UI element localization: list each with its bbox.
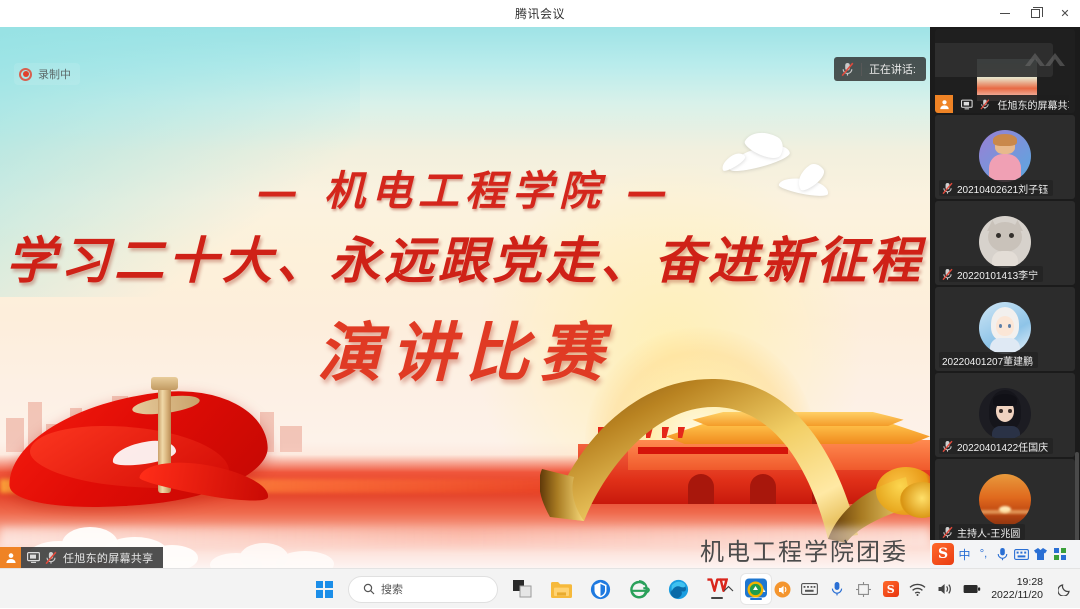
moon-icon[interactable] [1055,580,1074,599]
participant-name-bar: 20220401422任国庆 [939,438,1053,454]
microphone-icon[interactable] [827,580,846,599]
wifi-icon[interactable] [908,580,927,599]
mic-muted-icon [841,62,854,77]
participant-name: 任旭东的屏幕共享 [997,97,1069,112]
chevron-up-icon[interactable] [719,580,738,599]
mic-muted-icon [942,182,953,195]
screen-share-icon [27,552,40,563]
tencent-meeting-icon [1023,49,1067,71]
speaking-label: 正在讲话: [869,61,916,77]
avatar [979,302,1031,354]
avatar [979,130,1031,182]
participant-name: 20210402621刘子钰 [957,181,1048,196]
participant-name-bar: 20220101413李宁 [939,266,1043,282]
restore-button[interactable] [1020,0,1050,27]
participant-name: 20220401207董建鹏 [942,353,1033,368]
punctuation-icon[interactable]: °, [975,543,992,565]
internet-explorer-icon[interactable] [624,574,654,604]
participant-name: 20220101413李宁 [957,267,1038,282]
soft-keyboard-icon[interactable] [1013,543,1030,565]
clock-date: 2022/11/20 [991,589,1043,602]
restore-icon [1031,9,1040,18]
file-explorer-icon[interactable] [546,574,576,604]
meeting-window: — 机电工程学院 — 学习二十大、永远跟党走、奋进新征程 演讲比赛 [0,27,1080,568]
screen-share-icon [961,99,973,110]
participant-tile[interactable]: 任旭东的屏幕共享 [935,29,1075,113]
taskbar-clock[interactable]: 19:28 2022/11/20 [989,576,1047,602]
sogou-icon[interactable]: S [932,543,954,565]
microsoft-edge-icon[interactable] [663,574,693,604]
divider [861,63,862,76]
windows-start-icon[interactable] [309,574,339,604]
mic-muted-icon [942,268,953,281]
mic-muted-icon [980,98,990,111]
speaking-indicator: 正在讲话: [834,57,926,81]
cloud-decor [210,543,360,568]
taskbar-center-group: 搜索 [309,569,771,609]
security-icon[interactable] [585,574,615,604]
presentation-slide: — 机电工程学院 — 学习二十大、永远跟党走、奋进新征程 演讲比赛 [0,27,930,568]
mic-muted-icon [45,551,57,565]
close-icon: ✕ [1060,7,1069,20]
recording-indicator: 录制中 [14,63,80,85]
toolbox-icon[interactable] [1051,543,1068,565]
avatar [979,388,1031,440]
participant-tile[interactable]: 20220401422任国庆 [935,373,1075,457]
shared-screen-stage[interactable]: — 机电工程学院 — 学习二十大、永远跟党走、奋进新征程 演讲比赛 [0,27,930,568]
close-button[interactable]: ✕ [1050,0,1080,27]
record-dot-icon [19,68,32,81]
participant-name-bar: 主持人-王兆圆 [939,524,1025,540]
screen-share-banner: 任旭东的屏幕共享 [0,547,163,568]
participant-tile[interactable]: 20220101413李宁 [935,201,1075,285]
window-title: 腾讯会议 [515,5,565,22]
screen-share-label: 任旭东的屏幕共享 [63,550,163,566]
sound-manager-icon[interactable] [773,580,792,599]
clock-time: 19:28 [991,576,1043,589]
minimize-icon [1000,13,1010,14]
slide-subtitle-top: — 机电工程学院 — [0,157,930,217]
minimize-button[interactable] [990,0,1020,27]
participant-tile[interactable]: 20220401207董建鹏 [935,287,1075,371]
skin-icon[interactable] [1032,543,1049,565]
mic-muted-icon [942,526,953,539]
update-icon[interactable] [746,580,765,599]
slide-theme-line: 学习二十大、永远跟党走、奋进新征程 [0,221,930,293]
keyboard-icon[interactable] [800,580,819,599]
avatar [979,474,1031,526]
participant-name-bar: 20220401207董建鹏 [939,352,1038,368]
share-status-icons [21,551,63,565]
host-person-icon [0,547,21,568]
system-tray[interactable]: S 19:28 2022/11/20 [719,569,1074,609]
recording-label: 录制中 [38,66,71,82]
window-title-bar: 腾讯会议 ✕ [0,0,1080,27]
avatar [979,216,1031,268]
host-person-icon [935,95,953,113]
participant-name: 20220401422任国庆 [957,439,1048,454]
slide-footer-org: 机电工程学院团委 [700,532,908,567]
volume-icon[interactable] [935,580,954,599]
search-placeholder: 搜索 [381,581,403,597]
window-controls: ✕ [990,0,1080,27]
participant-name-bar: 20210402621刘子钰 [939,180,1053,196]
search-icon [363,583,375,595]
participant-name: 主持人-王兆圆 [957,525,1020,540]
search-input[interactable]: 搜索 [348,576,498,603]
voice-input-icon[interactable] [994,543,1011,565]
task-view-icon[interactable] [507,574,537,604]
sogou-icon[interactable]: S [881,580,900,599]
participant-sidebar[interactable]: 任旭东的屏幕共享 20210402621刘子钰 [930,27,1080,568]
ime-tool-icon[interactable] [854,580,873,599]
sogou-ime-toolbar[interactable]: S 中 °, [930,540,1080,568]
participant-tile[interactable]: 主持人-王兆圆 [935,459,1075,543]
chinese-mode-icon[interactable]: 中 [956,543,973,565]
huabiao-cap [151,377,178,390]
battery-icon[interactable] [962,580,981,599]
slide-main-title: 演讲比赛 [0,302,930,394]
participant-tile[interactable]: 20210402621刘子钰 [935,115,1075,199]
participant-name-bar: 任旭东的屏幕共享 [935,95,1069,113]
mic-muted-icon [942,440,953,453]
windows-taskbar[interactable]: 搜索 [0,568,1080,608]
